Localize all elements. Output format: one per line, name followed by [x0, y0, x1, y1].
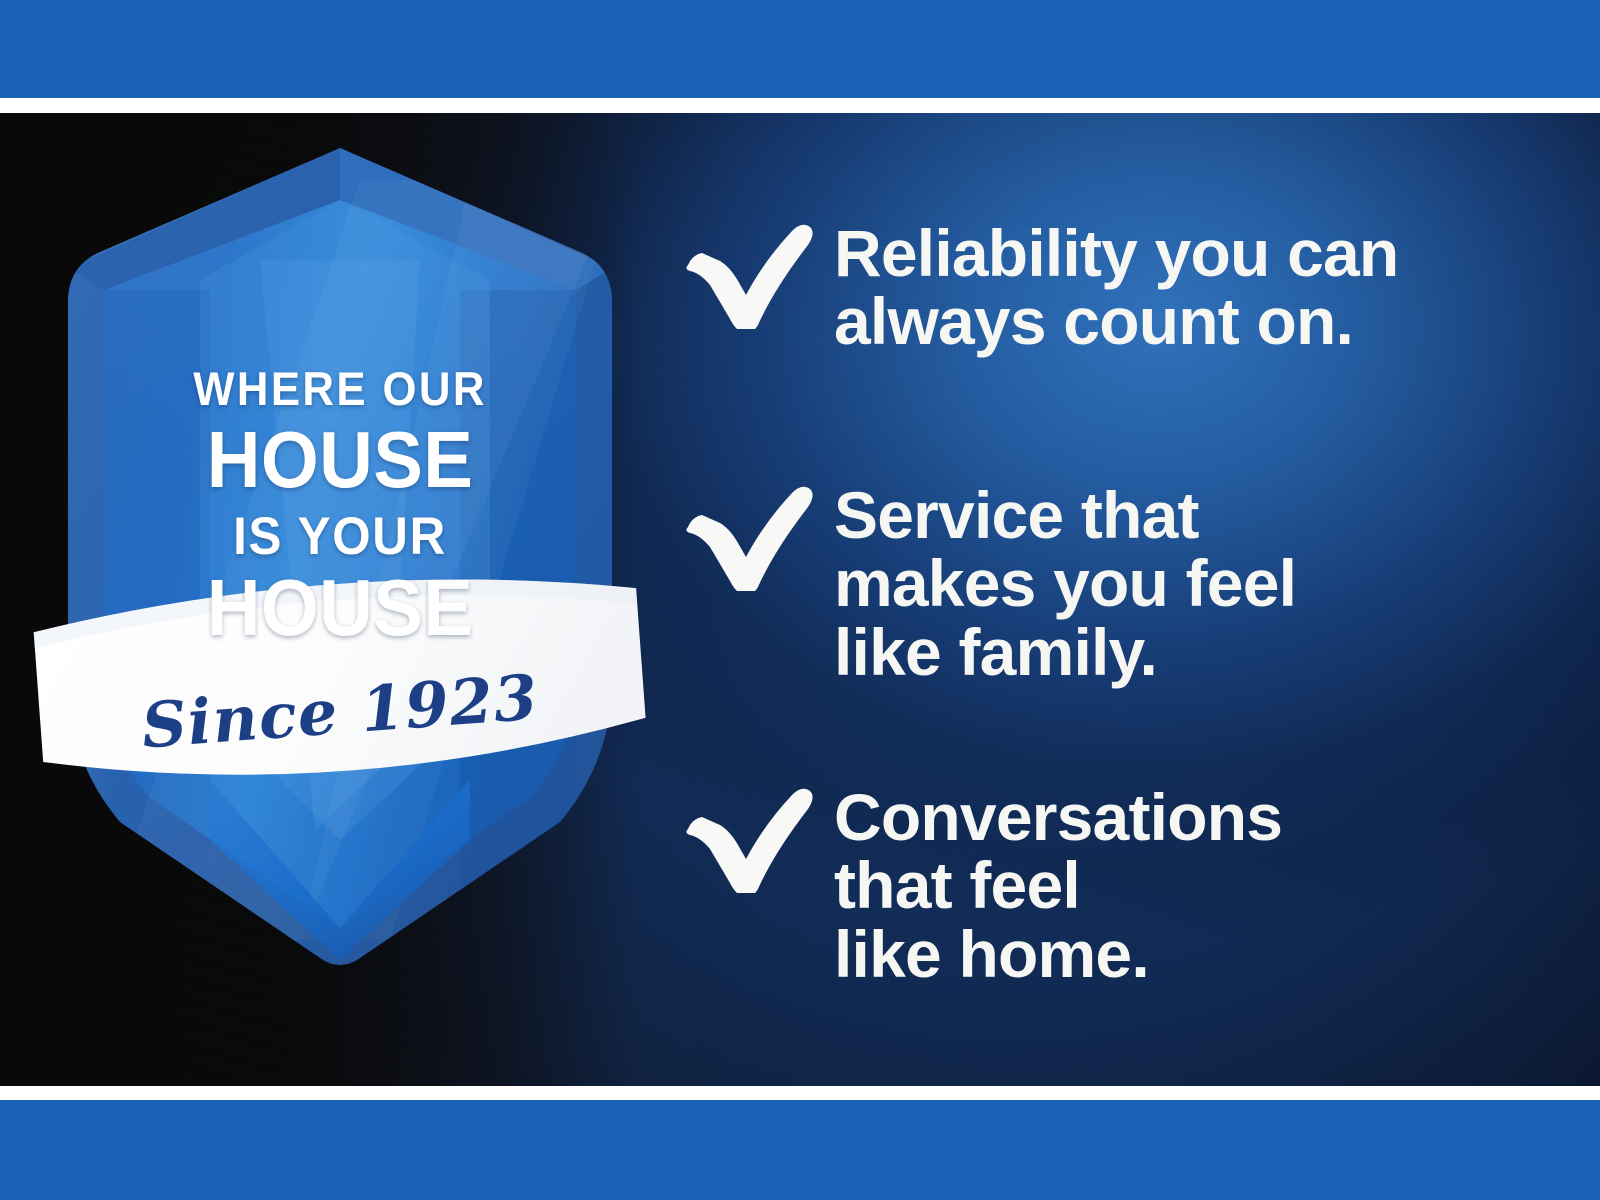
- shield-badge: [60, 140, 620, 970]
- promo-banner: WHERE OUR HOUSE IS YOUR HOUSE Since 1923…: [0, 0, 1600, 1200]
- benefit-text: Reliability you can always count on.: [834, 213, 1398, 356]
- benefit-item: Conversations that feel like home.: [676, 777, 1546, 988]
- bottom-white-divider: [0, 1086, 1600, 1100]
- checkmark-icon: [676, 777, 816, 893]
- top-blue-bar: [0, 0, 1600, 98]
- benefit-item: Reliability you can always count on.: [676, 213, 1546, 356]
- shield-face: [68, 148, 620, 960]
- benefit-item: Service that makes you feel like family.: [676, 475, 1546, 686]
- benefit-text: Service that makes you feel like family.: [834, 475, 1296, 686]
- checkmark-icon: [676, 213, 816, 329]
- bottom-blue-bar: [0, 1100, 1600, 1200]
- benefit-text: Conversations that feel like home.: [834, 777, 1282, 988]
- top-white-divider: [0, 98, 1600, 113]
- benefits-list: Reliability you can always count on. Ser…: [676, 113, 1546, 1086]
- checkmark-icon: [676, 475, 816, 591]
